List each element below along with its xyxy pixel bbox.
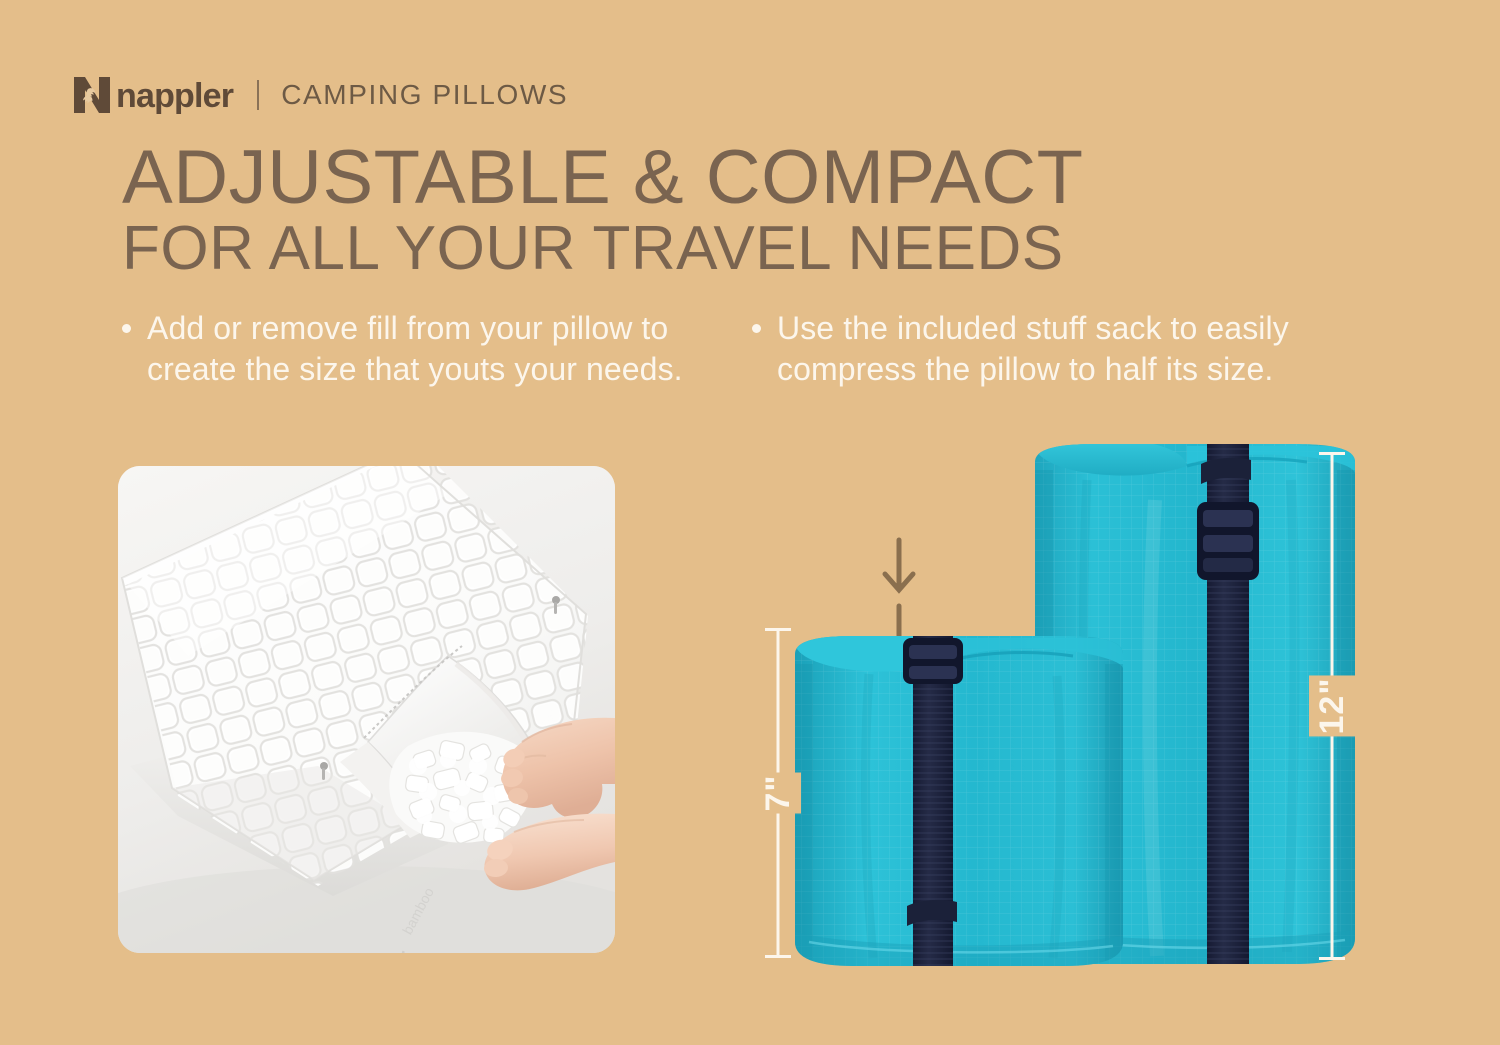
stuff-sack-comparison: [735, 440, 1375, 985]
dimension-7-inch: 7": [758, 628, 798, 958]
bullet-dot-icon: [752, 324, 761, 333]
brand-bar: nappler CAMPING PILLOWS: [70, 72, 568, 118]
bullet-adjustable-fill: Add or remove fill from your pillow to c…: [122, 308, 702, 390]
pillow-fill-photo: nappler bamboo: [118, 466, 615, 953]
headline-line-1: ADJUSTABLE & COMPACT: [122, 142, 1084, 214]
bullet-text: Add or remove fill from your pillow to c…: [147, 308, 702, 390]
brand-divider: [257, 80, 259, 110]
brand-name: nappler: [116, 79, 233, 113]
bullet-text: Use the included stuff sack to easily co…: [777, 308, 1352, 390]
dimension-label: 7": [755, 772, 801, 813]
dimension-12-inch: 12": [1312, 452, 1352, 960]
bullet-stuff-sack: Use the included stuff sack to easily co…: [752, 308, 1352, 390]
ladder-lock-buckle: [903, 638, 963, 684]
ladder-lock-buckle: [1197, 502, 1259, 580]
bullet-dot-icon: [122, 324, 131, 333]
infographic-page: nappler CAMPING PILLOWS ADJUSTABLE & COM…: [0, 0, 1500, 1045]
nappler-n-bird-logo-icon: [70, 73, 114, 117]
headline-line-2: FOR ALL YOUR TRAVEL NEEDS: [122, 220, 1084, 279]
dimension-cap-bottom: [765, 955, 791, 958]
sack-compressed: [791, 632, 1131, 972]
page-title: ADJUSTABLE & COMPACT FOR ALL YOUR TRAVEL…: [122, 142, 1084, 279]
feature-bullet-list: Add or remove fill from your pillow to c…: [0, 308, 1500, 428]
dimension-cap-bottom: [1319, 957, 1345, 960]
brand-tagline: CAMPING PILLOWS: [281, 81, 568, 109]
dimension-label: 12": [1309, 676, 1355, 737]
